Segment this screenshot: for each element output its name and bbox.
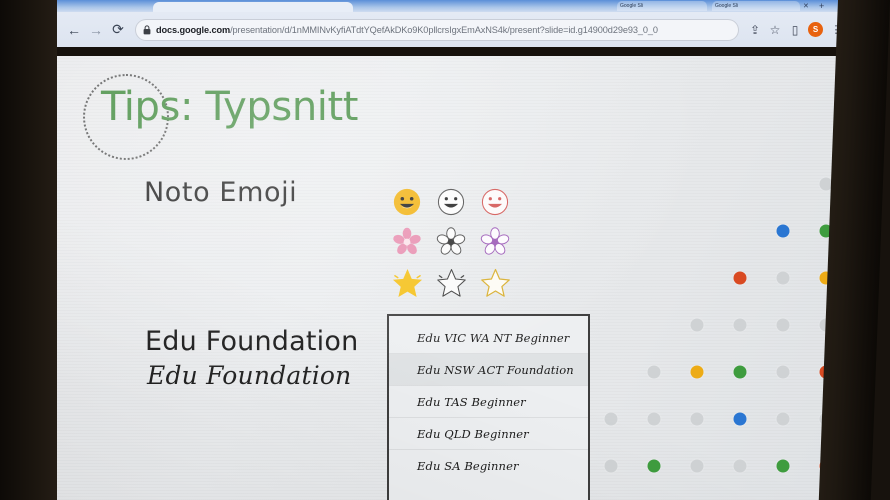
- monitor-chrome-gap: [57, 47, 852, 56]
- decoration-dot: [691, 413, 704, 426]
- new-tab-icon[interactable]: +: [819, 1, 824, 11]
- star-outline-gold-emoji: [473, 262, 517, 302]
- smiley-outline-emoji: [429, 182, 473, 222]
- noto-emoji-label: Noto Emoji: [144, 177, 297, 208]
- list-item[interactable]: Edu NSW ACT Foundation: [389, 354, 588, 386]
- avatar[interactable]: S: [808, 22, 823, 37]
- share-upload-icon[interactable]: ⇪: [745, 19, 765, 41]
- decoration-dot: [605, 413, 618, 426]
- blossom-outline-purple-emoji: [473, 222, 517, 262]
- decoration-dot: [734, 272, 747, 285]
- decoration-dot: [777, 413, 790, 426]
- back-arrow-icon[interactable]: ←: [63, 19, 85, 41]
- font-listbox[interactable]: Edu VIC WA NT Beginner Edu NSW ACT Found…: [387, 314, 590, 500]
- decoration-dot: [691, 366, 704, 379]
- decoration-dot: [691, 460, 704, 473]
- emoji-sample-grid: [385, 182, 517, 302]
- decoration-dot: [648, 366, 661, 379]
- dot-decoration-field: [597, 174, 854, 500]
- monitor-photo: Google Sli Google Sli ✕ + ⌄ ← → ⟳ docs.g…: [0, 0, 890, 500]
- slide-title-group: Tips: Typsnitt: [79, 72, 409, 150]
- blossom-filled-emoji: [385, 222, 429, 262]
- decoration-dot: [605, 460, 618, 473]
- presentation-slide: Tips: Typsnitt Noto Emoji: [57, 56, 854, 500]
- decoration-dot: [777, 225, 790, 238]
- address-bar[interactable]: docs.google.com/presentation/d/1nMMINvKy…: [135, 19, 739, 41]
- list-item[interactable]: Edu VIC WA NT Beginner: [389, 322, 588, 354]
- decoration-dot: [648, 460, 661, 473]
- decoration-dot: [691, 319, 704, 332]
- edu-foundation-label-cursive: Edu Foundation: [147, 361, 351, 390]
- star-bookmark-icon[interactable]: ☆: [765, 19, 785, 41]
- browser-tab-active[interactable]: [153, 2, 353, 12]
- decoration-dot: [777, 366, 790, 379]
- star-outline-emoji: [429, 262, 473, 302]
- decoration-dot: [777, 272, 790, 285]
- browser-toolbar: ← → ⟳ docs.google.com/presentation/d/1nM…: [57, 12, 852, 47]
- url-path: /presentation/d/1nMMINvKyfiATdtYQefAkDKo…: [230, 25, 658, 35]
- decoration-dot: [777, 319, 790, 332]
- page-title: Tips: Typsnitt: [101, 81, 358, 133]
- blossom-outline-emoji: [429, 222, 473, 262]
- smiley-outline-red-emoji: [473, 182, 517, 222]
- browser-tab-1[interactable]: Google Sli: [617, 1, 707, 11]
- reload-icon[interactable]: ⟳: [107, 19, 129, 41]
- url-domain: docs.google.com: [156, 25, 230, 35]
- decoration-dot: [648, 413, 661, 426]
- decoration-dot: [734, 460, 747, 473]
- address-bar-url: docs.google.com/presentation/d/1nMMINvKy…: [156, 19, 658, 41]
- decoration-dot: [734, 319, 747, 332]
- side-panel-icon[interactable]: ▯: [785, 19, 805, 41]
- browser-window: Google Sli Google Sli ✕ + ⌄ ← → ⟳ docs.g…: [57, 0, 852, 47]
- list-item[interactable]: Edu SA Beginner: [389, 450, 588, 482]
- browser-tab-2[interactable]: Google Sli: [712, 1, 800, 11]
- decoration-dot: [734, 413, 747, 426]
- list-item[interactable]: Edu QLD Beginner: [389, 418, 588, 450]
- list-item[interactable]: Edu TAS Beginner: [389, 386, 588, 418]
- decoration-dot: [777, 460, 790, 473]
- star-filled-emoji: [385, 262, 429, 302]
- lock-icon: [143, 25, 151, 35]
- smiley-filled-emoji: [385, 182, 429, 222]
- decoration-dot: [734, 366, 747, 379]
- edu-foundation-label-regular: Edu Foundation: [145, 326, 358, 357]
- forward-arrow-icon[interactable]: →: [85, 19, 107, 41]
- browser-tab-strip[interactable]: Google Sli Google Sli ✕ + ⌄: [57, 0, 852, 12]
- tab-close-icon[interactable]: ✕: [803, 2, 809, 10]
- monitor-bezel-left: [0, 0, 57, 500]
